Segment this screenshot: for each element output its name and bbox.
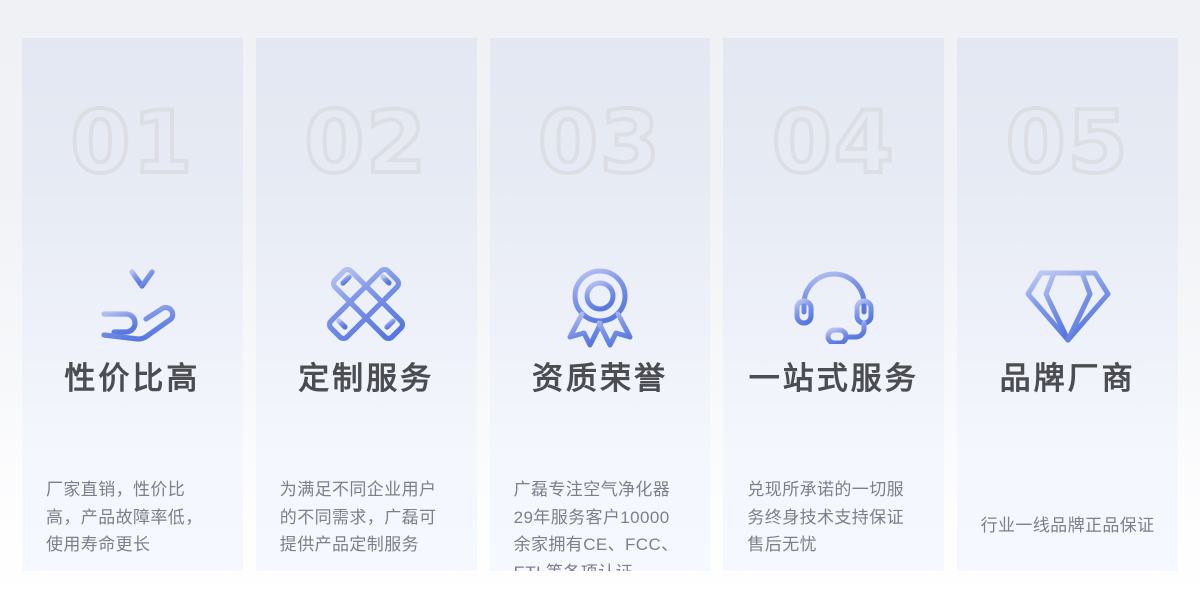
card-title: 定制服务 — [256, 360, 477, 397]
feature-card-list: 01 — [22, 38, 1178, 571]
headset-icon — [723, 260, 944, 352]
card-title: 一站式服务 — [723, 360, 944, 397]
feature-highlights-section: 01 — [0, 0, 1200, 600]
card-description: 广磊专注空气净化器29年服务客户10000余家拥有CE、FCC、ETL等各项认证 — [490, 476, 711, 571]
feature-card[interactable]: 04 — [723, 38, 944, 571]
feature-card[interactable]: 03 — [490, 38, 711, 571]
card-index-number: 02 — [256, 100, 477, 186]
card-index-number: 01 — [22, 100, 243, 186]
feature-card[interactable]: 05 — [957, 38, 1178, 571]
card-index-number: 04 — [723, 100, 944, 186]
card-description: 为满足不同企业用户的不同需求，广磊可提供产品定制服务 — [256, 476, 477, 559]
card-description: 兑现所承诺的一切服务终身技术支持保证售后无忧 — [723, 476, 944, 559]
card-title: 性价比高 — [22, 360, 243, 397]
crossed-pens-icon — [256, 260, 477, 352]
card-index-number: 05 — [957, 100, 1178, 186]
award-medal-ribbon-icon — [490, 260, 711, 352]
card-index-number: 03 — [490, 100, 711, 186]
card-description: 行业一线品牌正品保证 — [957, 512, 1178, 540]
feature-card[interactable]: 01 — [22, 38, 243, 571]
diamond-icon — [957, 260, 1178, 352]
feature-card[interactable]: 02 — [256, 38, 477, 571]
card-description: 厂家直销，性价比高，产品故障率低，使用寿命更长 — [22, 476, 243, 559]
hand-holding-yuan-icon — [22, 260, 243, 352]
card-title: 品牌厂商 — [957, 360, 1178, 397]
card-title: 资质荣誉 — [490, 360, 711, 397]
